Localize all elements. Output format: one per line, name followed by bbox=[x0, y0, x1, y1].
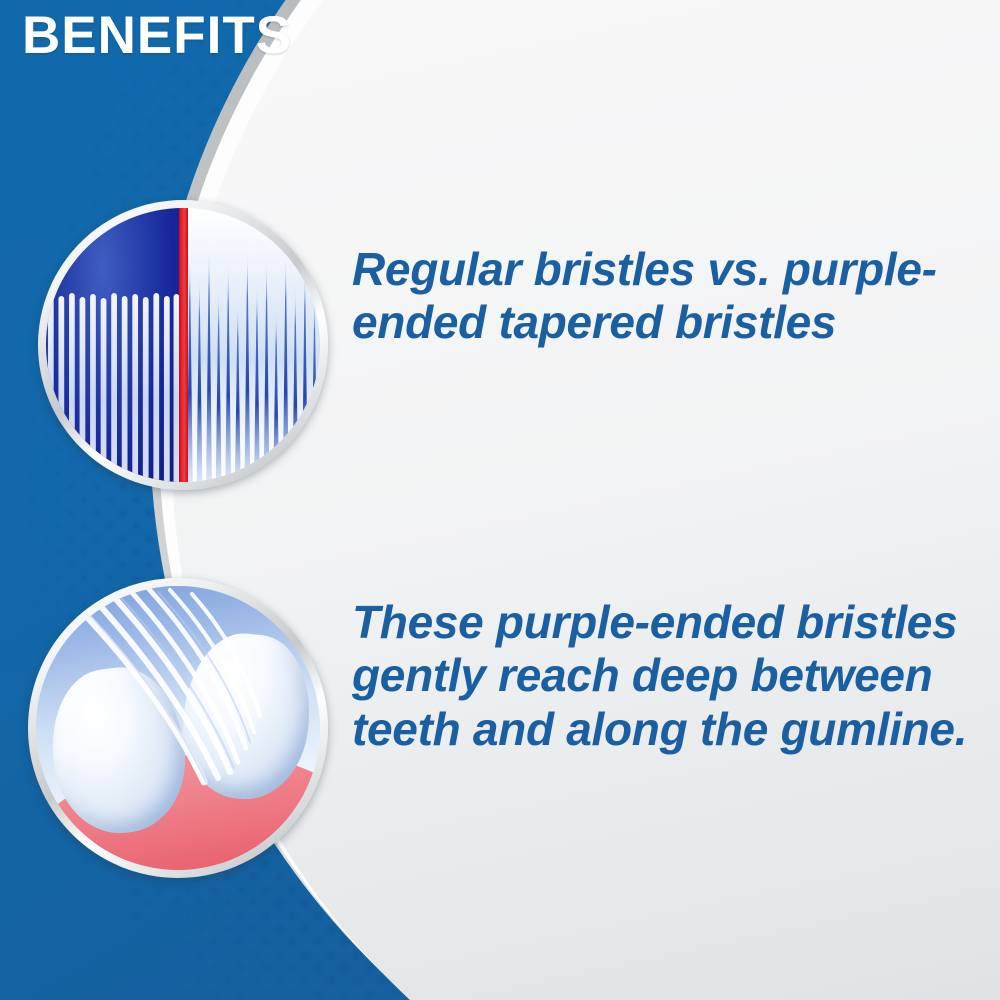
red-divider-line bbox=[179, 208, 188, 482]
tapered-bristles-icon bbox=[186, 208, 320, 482]
regular-bristles-side bbox=[46, 208, 180, 482]
regular-bristles-icon bbox=[46, 208, 180, 482]
bubble-inner bbox=[36, 586, 320, 870]
tapered-bristles-side bbox=[186, 208, 320, 482]
benefits-panel: BENEFITS bbox=[0, 0, 1000, 1000]
bristle-comparison-closeup bbox=[38, 200, 328, 490]
page-title: BENEFITS bbox=[22, 8, 292, 64]
teeth-gumline-closeup bbox=[28, 578, 328, 878]
benefit-text-1: Regular bristles vs. purple-ended tapere… bbox=[352, 243, 952, 350]
benefit-text-2: These purple-ended bristles gently reach… bbox=[352, 596, 972, 756]
bubble-inner bbox=[46, 208, 320, 482]
bristles-between-teeth-icon bbox=[36, 586, 320, 870]
